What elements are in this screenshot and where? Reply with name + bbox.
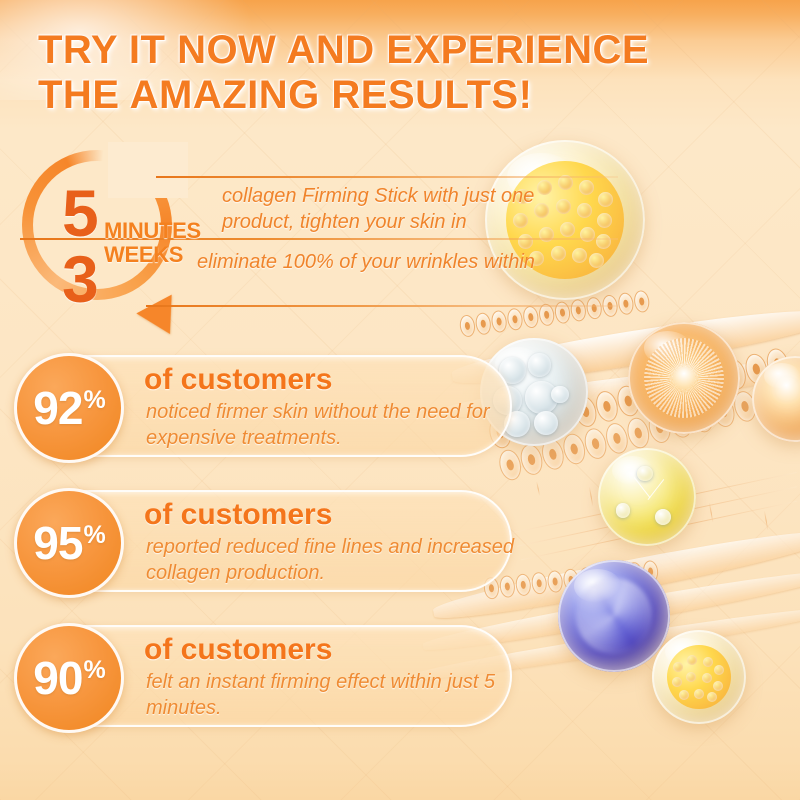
percent-value: 92% xyxy=(33,385,104,431)
percent-symbol: % xyxy=(83,658,104,683)
weeks-description: eliminate 100% of your wrinkles within xyxy=(197,250,617,276)
stat-card: 95% of customers reported reduced fine l… xyxy=(18,490,512,592)
yellow-molecule-sphere xyxy=(598,448,696,546)
honeycomb-texture xyxy=(667,645,731,709)
stat-description: reported reduced fine lines and increase… xyxy=(146,534,516,586)
minutes-description: collagen Firming Stick with just one pro… xyxy=(222,184,612,235)
collagen-fiber xyxy=(513,472,797,534)
collagen-fiber xyxy=(536,481,541,497)
poster-canvas: TRY IT NOW AND EXPERIENCE THE AMAZING RE… xyxy=(0,0,800,800)
honeycomb-sphere-small xyxy=(652,630,746,724)
percent-symbol: % xyxy=(83,523,104,548)
percent-badge: 90% xyxy=(14,623,124,733)
time-results-block: 5 MINUTES 3 WEEKS collagen Firming Stick… xyxy=(22,150,602,322)
stat-title: of customers xyxy=(144,363,332,397)
skin-cell-row xyxy=(496,384,780,483)
headline-line-2: THE AMAZING RESULTS! xyxy=(38,73,738,118)
collagen-fiber xyxy=(517,486,797,547)
collagen-fiber xyxy=(763,510,768,532)
stat-card: 92% of customers noticed firmer skin wit… xyxy=(18,355,512,457)
collagen-fiber xyxy=(588,486,593,508)
percent-badge: 95% xyxy=(14,488,124,598)
stat-title: of customers xyxy=(144,498,332,532)
ring-gap xyxy=(108,142,188,198)
radiant-orange-sphere xyxy=(628,322,740,434)
weeks-value: 3 xyxy=(62,246,99,312)
radiant-orange-sphere xyxy=(752,356,800,442)
minutes-unit: MINUTES xyxy=(104,218,201,244)
percent-value: 90% xyxy=(33,655,104,701)
page-title: TRY IT NOW AND EXPERIENCE THE AMAZING RE… xyxy=(38,28,738,118)
swirl-texture xyxy=(576,578,652,654)
stat-card: 90% of customers felt an instant firming… xyxy=(18,625,512,727)
weeks-unit: WEEKS xyxy=(104,242,183,268)
stat-description: felt an instant firming effect within ju… xyxy=(146,669,516,721)
collagen-fiber xyxy=(521,501,797,561)
radial-burst-texture xyxy=(644,338,725,419)
divider-bottom xyxy=(146,305,618,307)
percent-badge: 92% xyxy=(14,353,124,463)
stat-title: of customers xyxy=(144,633,332,667)
minutes-value: 5 xyxy=(62,180,99,246)
arrow-head-icon xyxy=(136,295,187,344)
percent-symbol: % xyxy=(83,388,104,413)
skin-cell-row xyxy=(486,346,791,450)
collagen-fiber xyxy=(648,494,653,516)
stat-description: noticed firmer skin without the need for… xyxy=(146,399,516,451)
collagen-fiber xyxy=(708,502,713,524)
blue-swirl-sphere xyxy=(558,560,670,672)
percent-value: 95% xyxy=(33,520,104,566)
divider-top xyxy=(156,176,618,178)
headline-line-1: TRY IT NOW AND EXPERIENCE xyxy=(38,28,649,72)
